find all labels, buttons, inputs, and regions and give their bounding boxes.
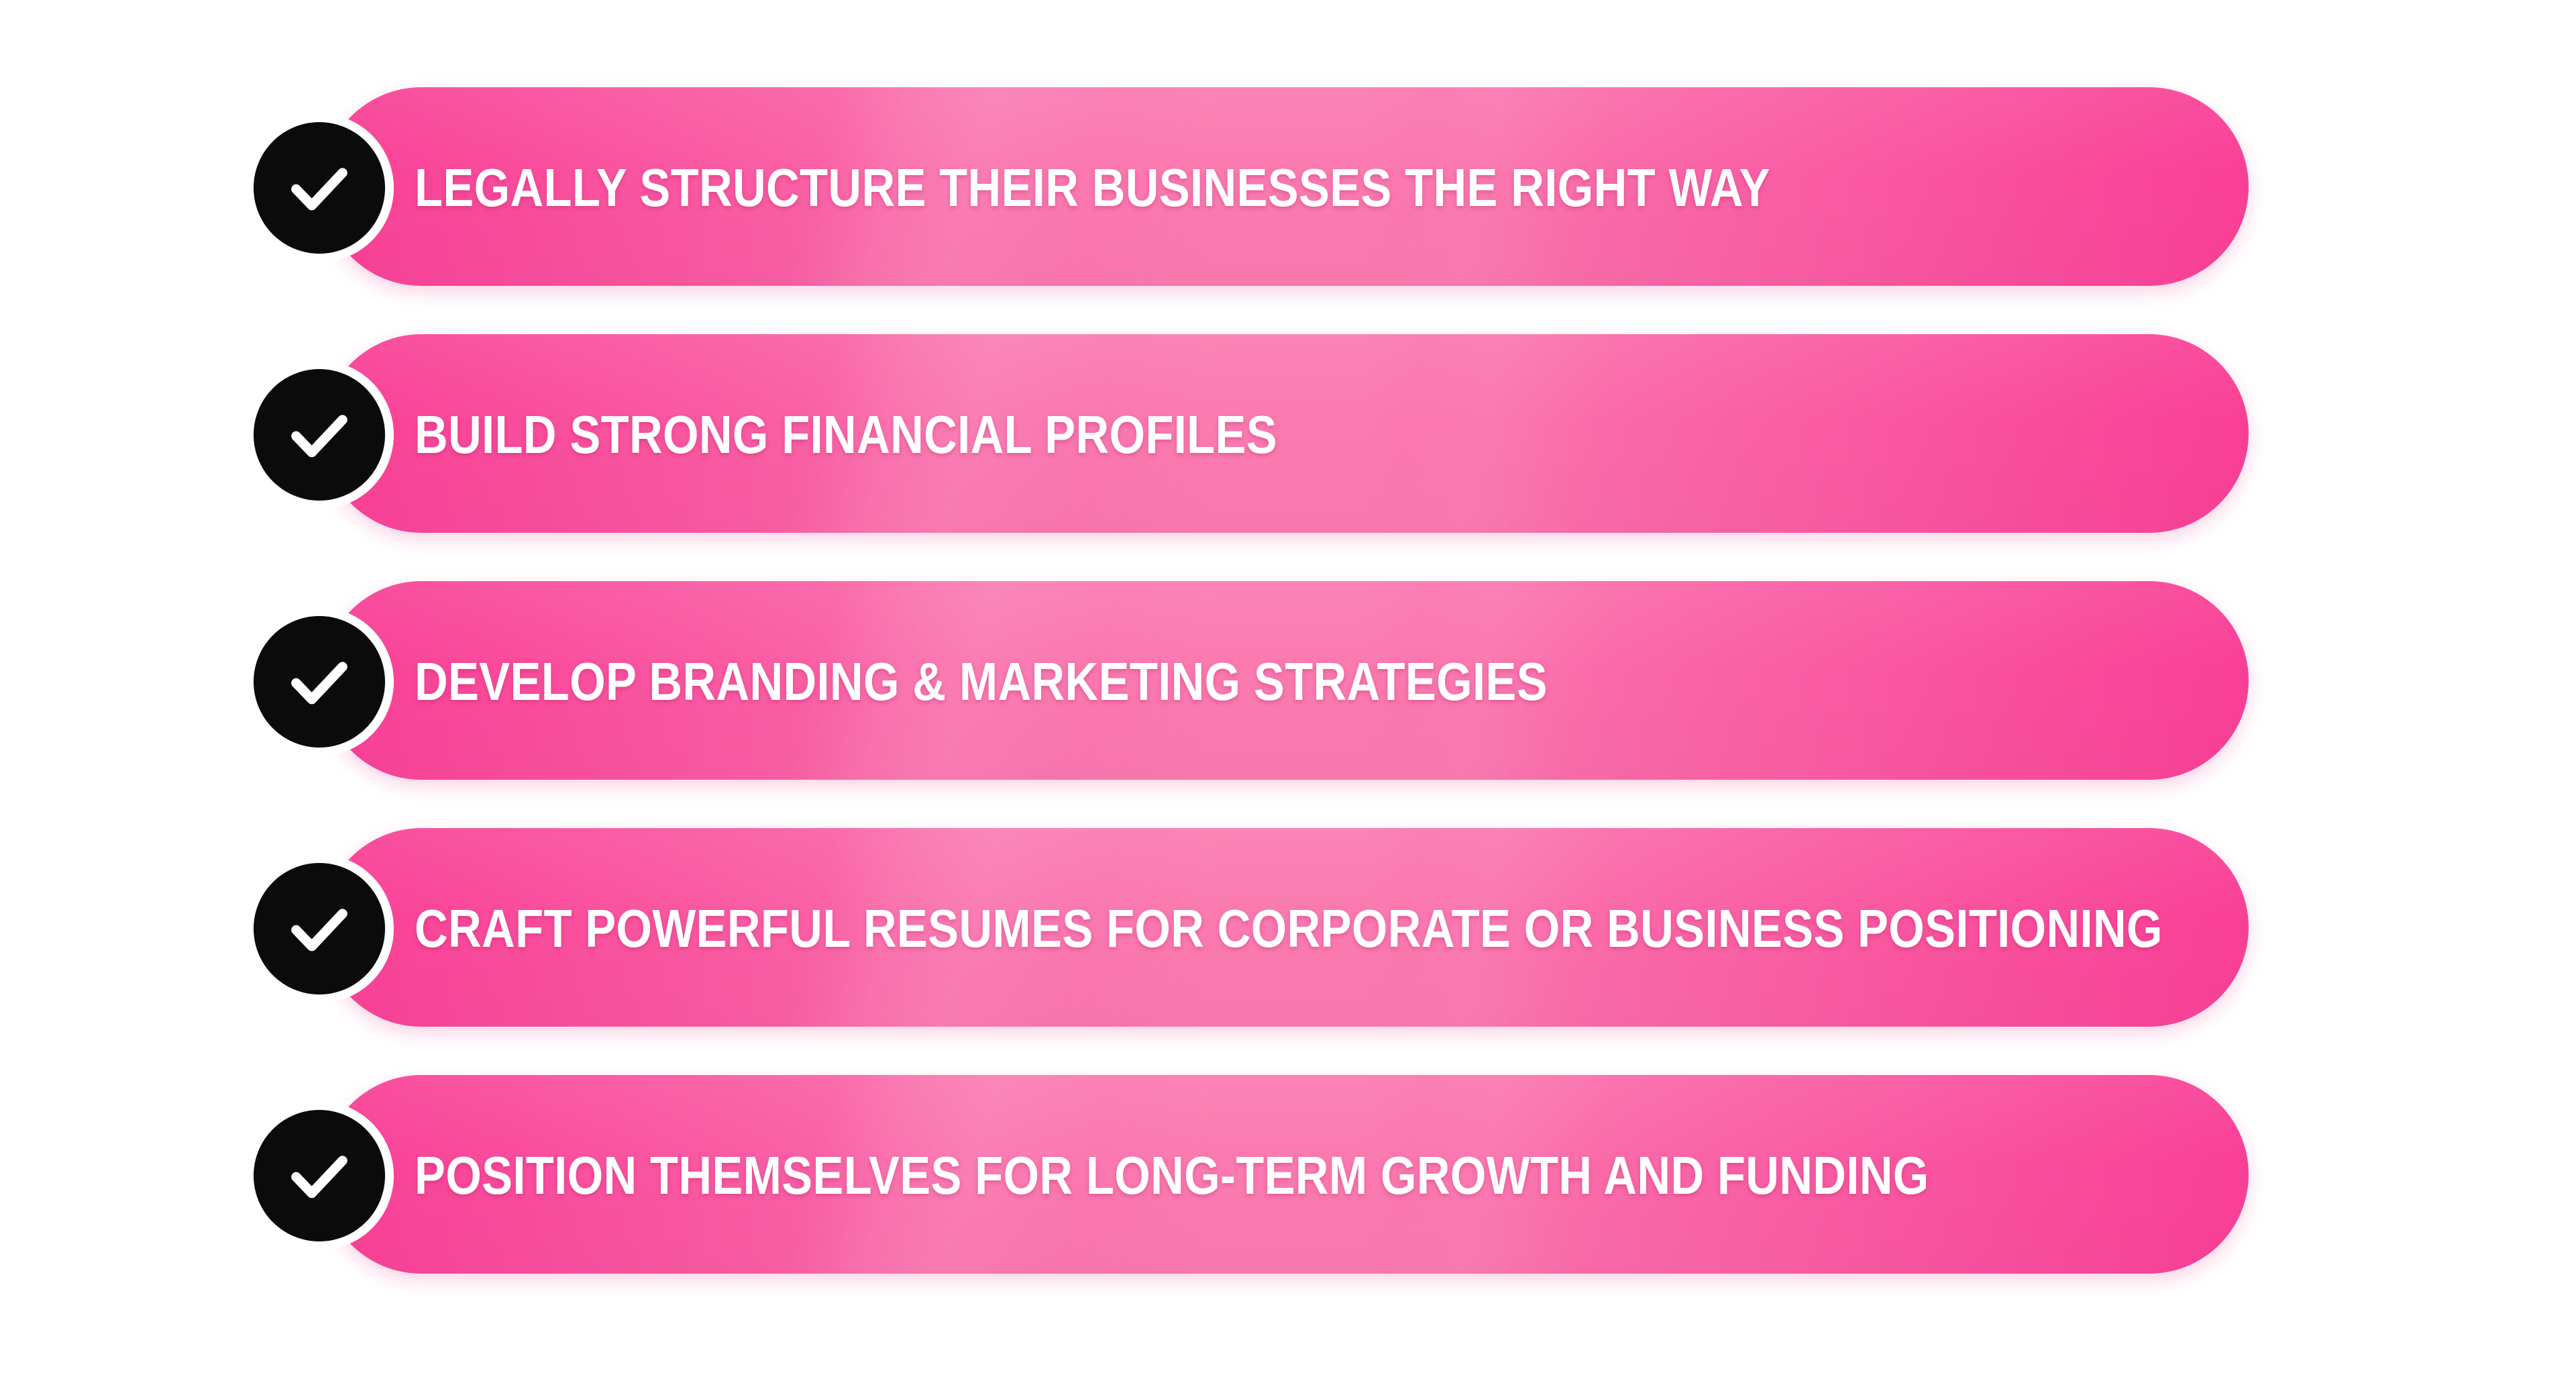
checklist-item-1[interactable]: LEGALLY STRUCTURE THEIR BUSINESSES THE R… [0,87,2576,289]
checklist-item-2[interactable]: BUILD STRONG FINANCIAL PROFILES [0,334,2576,535]
check-badge-4 [254,863,385,994]
checklist-item-4[interactable]: CRAFT POWERFUL RESUMES FOR CORPORATE OR … [0,828,2576,1029]
check-badge-5 [254,1110,385,1241]
checklist-item-label-3: DEVELOP BRANDING & MARKETING STRATEGIES [415,655,1548,709]
check-icon [282,644,357,719]
check-icon [282,891,357,966]
checklist-item-5[interactable]: POSITION THEMSELVES FOR LONG-TERM GROWTH… [0,1075,2576,1276]
checklist-item-label-4: CRAFT POWERFUL RESUMES FOR CORPORATE OR … [415,902,2163,956]
check-badge-3 [254,616,385,748]
checklist-item-label-2: BUILD STRONG FINANCIAL PROFILES [415,408,1277,462]
checklist-item-label-5: POSITION THEMSELVES FOR LONG-TERM GROWTH… [415,1149,1929,1203]
check-icon [282,150,357,225]
checklist-board: LEGALLY STRUCTURE THEIR BUSINESSES THE R… [0,0,2576,1379]
check-badge-1 [254,122,385,254]
checklist-item-label-1: LEGALLY STRUCTURE THEIR BUSINESSES THE R… [415,161,1770,215]
check-icon [282,1138,357,1213]
checklist-item-3[interactable]: DEVELOP BRANDING & MARKETING STRATEGIES [0,581,2576,782]
check-badge-2 [254,369,385,501]
check-icon [282,397,357,472]
